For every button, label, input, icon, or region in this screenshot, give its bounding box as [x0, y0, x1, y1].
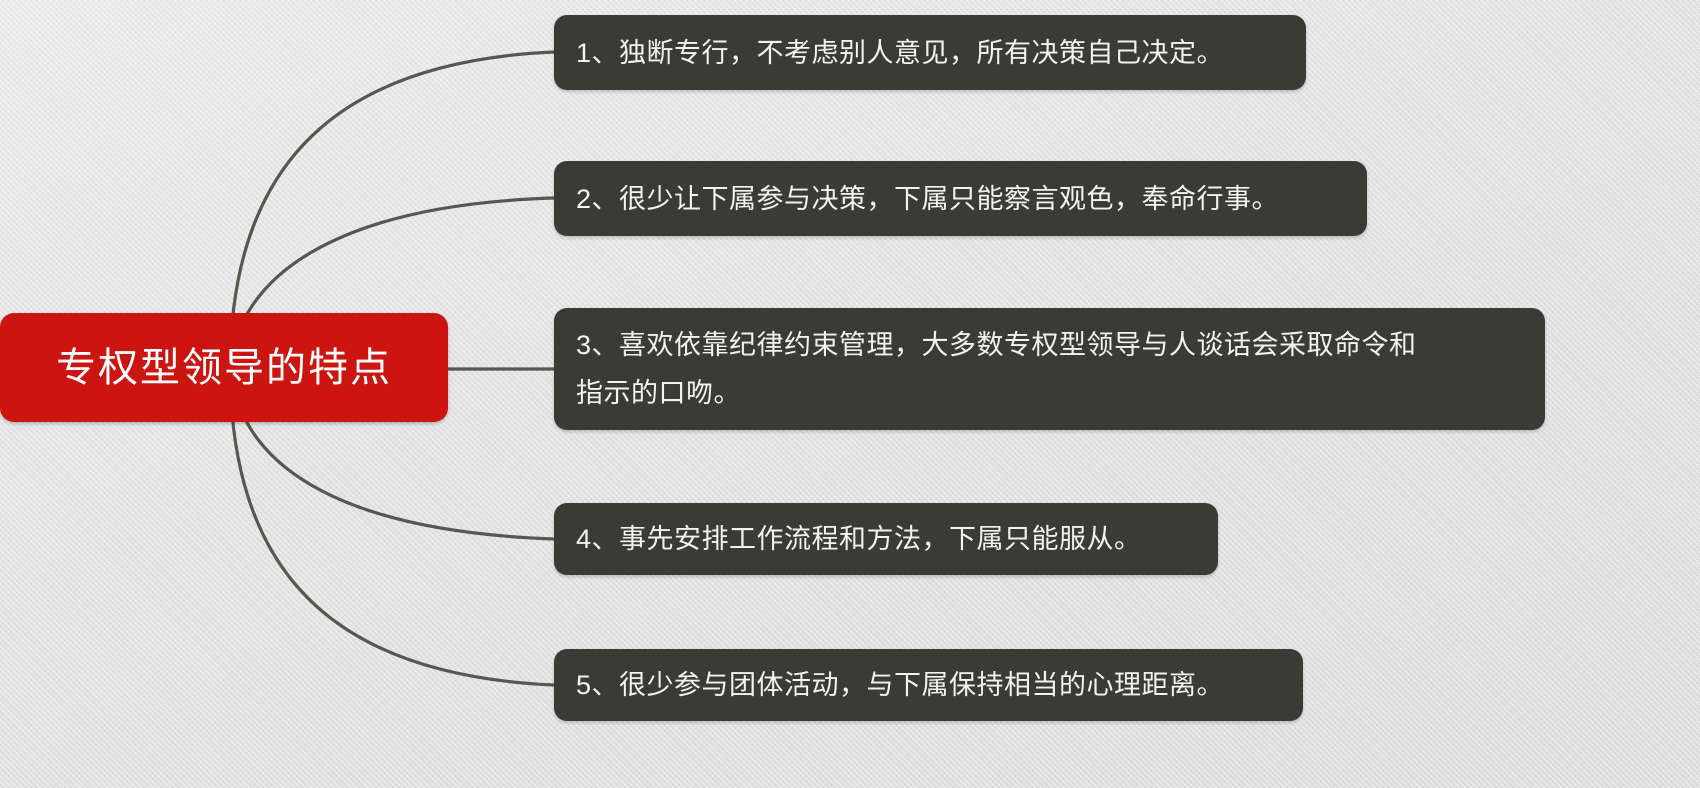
- branch-node-3-label: 3、喜欢依靠纪律约束管理，大多数专权型领导与人谈话会采取命令和 指示的口吻。: [576, 321, 1417, 417]
- branch-node-1-label: 1、独断专行，不考虑别人意见，所有决策自己决定。: [576, 29, 1224, 77]
- branch-node-4[interactable]: 4、事先安排工作流程和方法，下属只能服从。: [554, 503, 1218, 575]
- root-node-label: 专权型领导的特点: [0, 344, 448, 392]
- branch-node-3[interactable]: 3、喜欢依靠纪律约束管理，大多数专权型领导与人谈话会采取命令和 指示的口吻。: [554, 308, 1545, 430]
- branch-node-1[interactable]: 1、独断专行，不考虑别人意见，所有决策自己决定。: [554, 15, 1306, 90]
- branch-node-5[interactable]: 5、很少参与团体活动，与下属保持相当的心理距离。: [554, 649, 1303, 721]
- branch-node-5-label: 5、很少参与团体活动，与下属保持相当的心理距离。: [576, 661, 1224, 709]
- mind-map-canvas: 专权型领导的特点 1、独断专行，不考虑别人意见，所有决策自己决定。 2、很少让下…: [0, 0, 1700, 788]
- branch-node-2-label: 2、很少让下属参与决策，下属只能察言观色，奉命行事。: [576, 175, 1279, 223]
- branch-node-2[interactable]: 2、很少让下属参与决策，下属只能察言观色，奉命行事。: [554, 161, 1367, 236]
- root-node[interactable]: 专权型领导的特点: [0, 313, 448, 422]
- branch-node-4-label: 4、事先安排工作流程和方法，下属只能服从。: [576, 515, 1142, 563]
